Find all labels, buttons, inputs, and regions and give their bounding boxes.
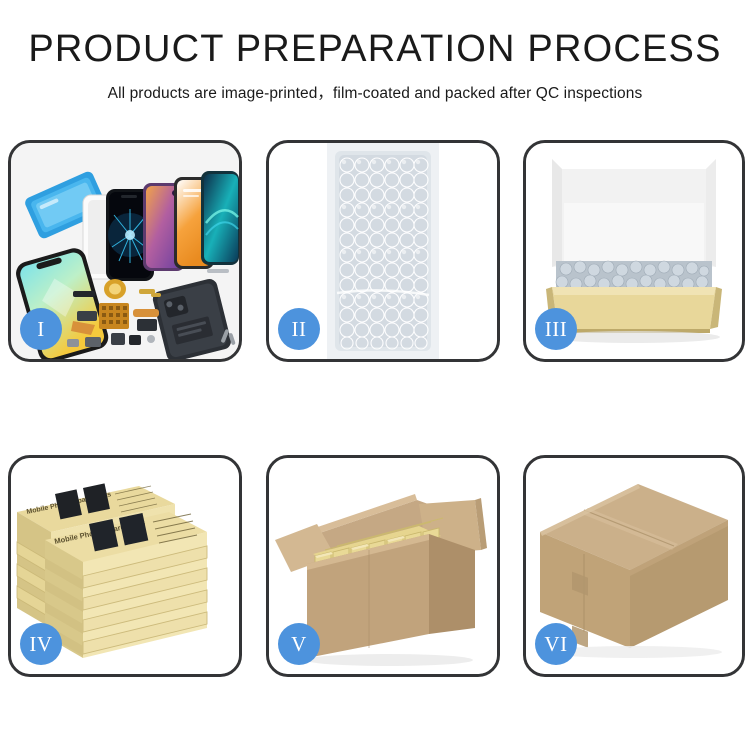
step-badge-6: VI	[535, 623, 577, 665]
step-badge-3: III	[535, 308, 577, 350]
step-panel-inner-box-packing[interactable]: III	[523, 140, 745, 362]
step-panel-open-carton[interactable]: V	[266, 455, 500, 677]
step-badge-2: II	[278, 308, 320, 350]
step-badge-5: V	[278, 623, 320, 665]
page-title: PRODUCT PREPARATION PROCESS	[0, 30, 750, 70]
process-step-grid: I	[0, 140, 750, 680]
step-panel-stacked-retail-boxes[interactable]: Mobile Phone Spare Parts	[8, 455, 242, 677]
page-header: PRODUCT PREPARATION PROCESS All products…	[0, 0, 750, 103]
step-panel-bubble-wrap[interactable]: II	[266, 140, 500, 362]
step-panel-phones-and-parts[interactable]: I	[8, 140, 242, 362]
page-subtitle: All products are image-printed，film-coat…	[0, 81, 750, 103]
step-panel-sealed-carton[interactable]: VI	[523, 455, 745, 677]
step-badge-4: IV	[20, 623, 62, 665]
step-badge-1: I	[20, 308, 62, 350]
